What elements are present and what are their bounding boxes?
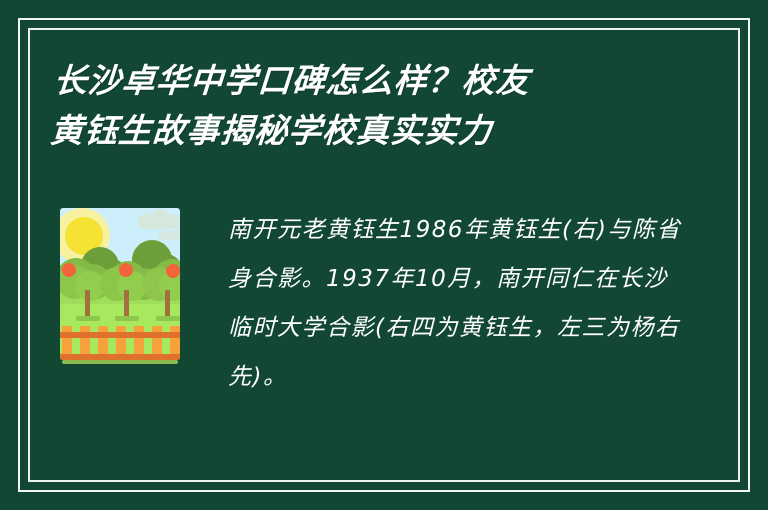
page-title-line-1: 长沙卓华中学口碑怎么样？校友	[52, 56, 675, 106]
tree-base	[156, 316, 180, 321]
illustration-base-strip	[62, 360, 178, 364]
orchard-illustration	[60, 208, 180, 368]
fruit-icon	[119, 263, 133, 277]
page-title: 长沙卓华中学口碑怎么样？校友 黄钰生故事揭秘学校真实实力	[49, 56, 676, 156]
poster-canvas: 长沙卓华中学口碑怎么样？校友 黄钰生故事揭秘学校真实实力	[0, 0, 768, 510]
tree-trunk	[85, 290, 90, 318]
tree-base	[115, 316, 139, 321]
orchard-illustration-svg	[60, 208, 180, 368]
tree-trunk	[124, 290, 129, 318]
fruit-icon	[62, 263, 76, 277]
fruit-icon	[166, 264, 180, 278]
fence-rail-bottom	[60, 354, 180, 360]
article-caption: 南开元老黄钰生1986年黄钰生(右)与陈省身合影。1937年10月，南开同仁在长…	[228, 206, 688, 402]
tree-base	[76, 316, 100, 321]
page-title-line-2: 黄钰生故事揭秘学校真实实力	[49, 106, 672, 156]
tree-trunk	[165, 290, 170, 318]
fence-rail-top	[60, 332, 180, 338]
